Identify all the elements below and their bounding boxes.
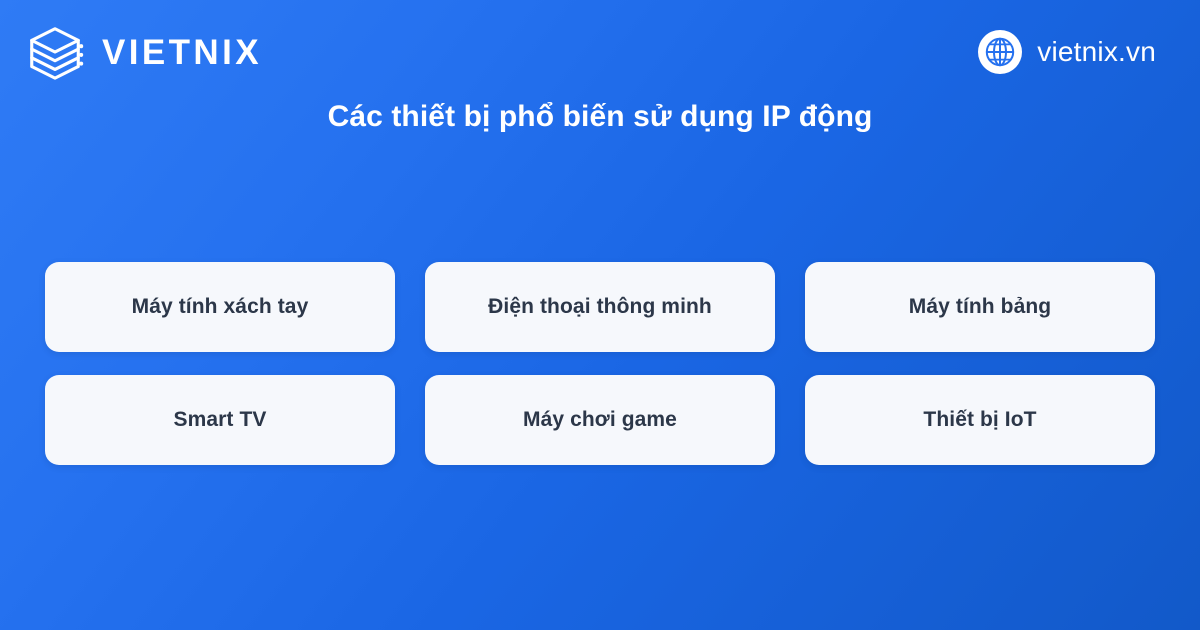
device-card-label: Máy tính xách tay	[132, 294, 309, 320]
device-card[interactable]: Máy tính xách tay	[45, 262, 395, 352]
device-card[interactable]: Thiết bị IoT	[805, 375, 1155, 465]
device-card[interactable]: Máy chơi game	[425, 375, 775, 465]
device-card-label: Máy tính bảng	[909, 294, 1051, 320]
device-card-label: Máy chơi game	[523, 407, 677, 433]
device-card-label: Thiết bị IoT	[923, 407, 1036, 433]
brand-logo: VIETNIX	[24, 21, 262, 83]
device-card[interactable]: Máy tính bảng	[805, 262, 1155, 352]
device-card-label: Smart TV	[174, 407, 267, 433]
device-card[interactable]: Điện thoại thông minh	[425, 262, 775, 352]
device-card-grid: Máy tính xách tay Điện thoại thông minh …	[45, 262, 1155, 465]
stacked-layers-icon	[24, 21, 86, 83]
device-card-label: Điện thoại thông minh	[488, 294, 712, 320]
poster-header: VIETNIX vietnix.vn	[0, 0, 1200, 104]
globe-icon	[978, 30, 1022, 74]
brand-name: VIETNIX	[102, 35, 262, 70]
site-url-block[interactable]: vietnix.vn	[978, 30, 1156, 74]
site-url-label: vietnix.vn	[1037, 38, 1156, 66]
device-card[interactable]: Smart TV	[45, 375, 395, 465]
page-title: Các thiết bị phổ biến sử dụng IP động	[0, 96, 1200, 138]
infographic-poster: VIETNIX vietnix.vn Các thiết bị phổ biến…	[0, 0, 1200, 630]
